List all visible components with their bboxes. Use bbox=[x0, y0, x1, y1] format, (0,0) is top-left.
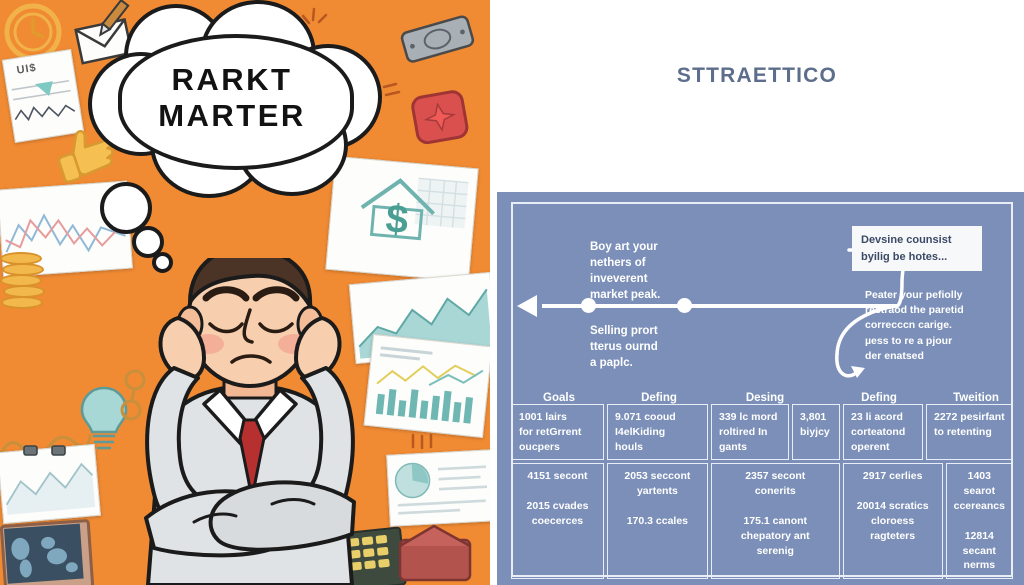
table-header-cell: Goals bbox=[511, 392, 607, 404]
table-cell: 2917 cerlies 20014 scratics cloroess rag… bbox=[843, 463, 943, 579]
callout-line-2: byilig be hotes... bbox=[861, 249, 973, 266]
thought-bubble: RARKT MARTER bbox=[96, 8, 368, 188]
table-cell: 3,801 biyjcy bbox=[792, 404, 840, 460]
table-header-row: Goals Defing Desing Defing Tweition bbox=[511, 392, 1013, 404]
table-cell: 1001 lairs for retGrrent oucpers bbox=[511, 404, 604, 460]
table-cell: 2272 pesirfant to retenting bbox=[926, 404, 1013, 460]
metrics-table: Goals Defing Desing Defing Tweition 1001… bbox=[511, 392, 1013, 577]
table-cell: 2053 seccont yartents 170.3 ccales bbox=[607, 463, 708, 579]
slide-root: UI$ bbox=[0, 0, 1024, 585]
clip-icon bbox=[22, 442, 68, 458]
paper-label-uis: UI$ bbox=[16, 62, 38, 77]
table-cell: 2357 secont conerits 175.1 canont chepat… bbox=[711, 463, 840, 579]
svg-text:$: $ bbox=[384, 197, 410, 243]
wallet-icon bbox=[394, 524, 482, 584]
table-cell: 4151 secont 2015 cvades coecerces bbox=[511, 463, 604, 579]
table-cell: 9.071 cooud I4elKiding houls bbox=[607, 404, 708, 460]
speed-lines-icon bbox=[382, 80, 406, 102]
bar-chart-paper bbox=[364, 334, 490, 438]
strategy-diagram: Boy art your nethers of inveverent marke… bbox=[497, 192, 1024, 585]
stressed-investor-illustration: UI$ bbox=[0, 0, 490, 585]
table-header-cell: Defing bbox=[607, 392, 711, 404]
timeline-arrow-icon bbox=[517, 295, 537, 317]
table-header-cell: Defing bbox=[819, 392, 939, 404]
pie-report-paper bbox=[386, 449, 490, 527]
callout-note: Peater your pefiolly restraod the pareti… bbox=[865, 288, 990, 364]
thought-line-1: RARKT bbox=[172, 62, 293, 98]
table-row: 1001 lairs for retGrrent oucpers 9.071 c… bbox=[511, 404, 1013, 460]
page-title: STTRAETTICO bbox=[490, 64, 1024, 88]
table-body: 1001 lairs for retGrrent oucpers 9.071 c… bbox=[511, 404, 1013, 579]
thought-bubble-text: RARKT MARTER bbox=[96, 8, 368, 188]
timeline-label-above: Boy art your nethers of inveverent marke… bbox=[590, 240, 710, 303]
right-content-panel: STTRAETTICO Boy art your nethers of inve… bbox=[490, 0, 1024, 585]
callout-line-1: Devsine counsist bbox=[861, 232, 973, 249]
banknote-icon bbox=[398, 12, 478, 70]
red-compass-icon bbox=[408, 86, 474, 150]
tick-lines-icon bbox=[408, 432, 436, 454]
stressed-person bbox=[120, 258, 380, 585]
table-header-cell: Tweition bbox=[939, 392, 1013, 404]
coin-stack-icon bbox=[0, 252, 46, 312]
thought-line-2: MARTER bbox=[158, 98, 306, 134]
table-cell: 23 li acord corteatond operent bbox=[843, 404, 923, 460]
table-cell: 339 lc mord roltired In gants bbox=[711, 404, 789, 460]
table-cell: 1403 searot ccereancs 12814 secant nerms bbox=[946, 463, 1013, 579]
timeline-label-below: Selling prort tterus ournd a paplc. bbox=[590, 324, 710, 372]
table-row: 4151 secont 2015 cvades coecerces 2053 s… bbox=[511, 463, 1013, 579]
world-map-tablet bbox=[0, 519, 94, 585]
callout-box: Devsine counsist byilig be hotes... bbox=[852, 226, 982, 271]
table-header-cell: Desing bbox=[711, 392, 819, 404]
